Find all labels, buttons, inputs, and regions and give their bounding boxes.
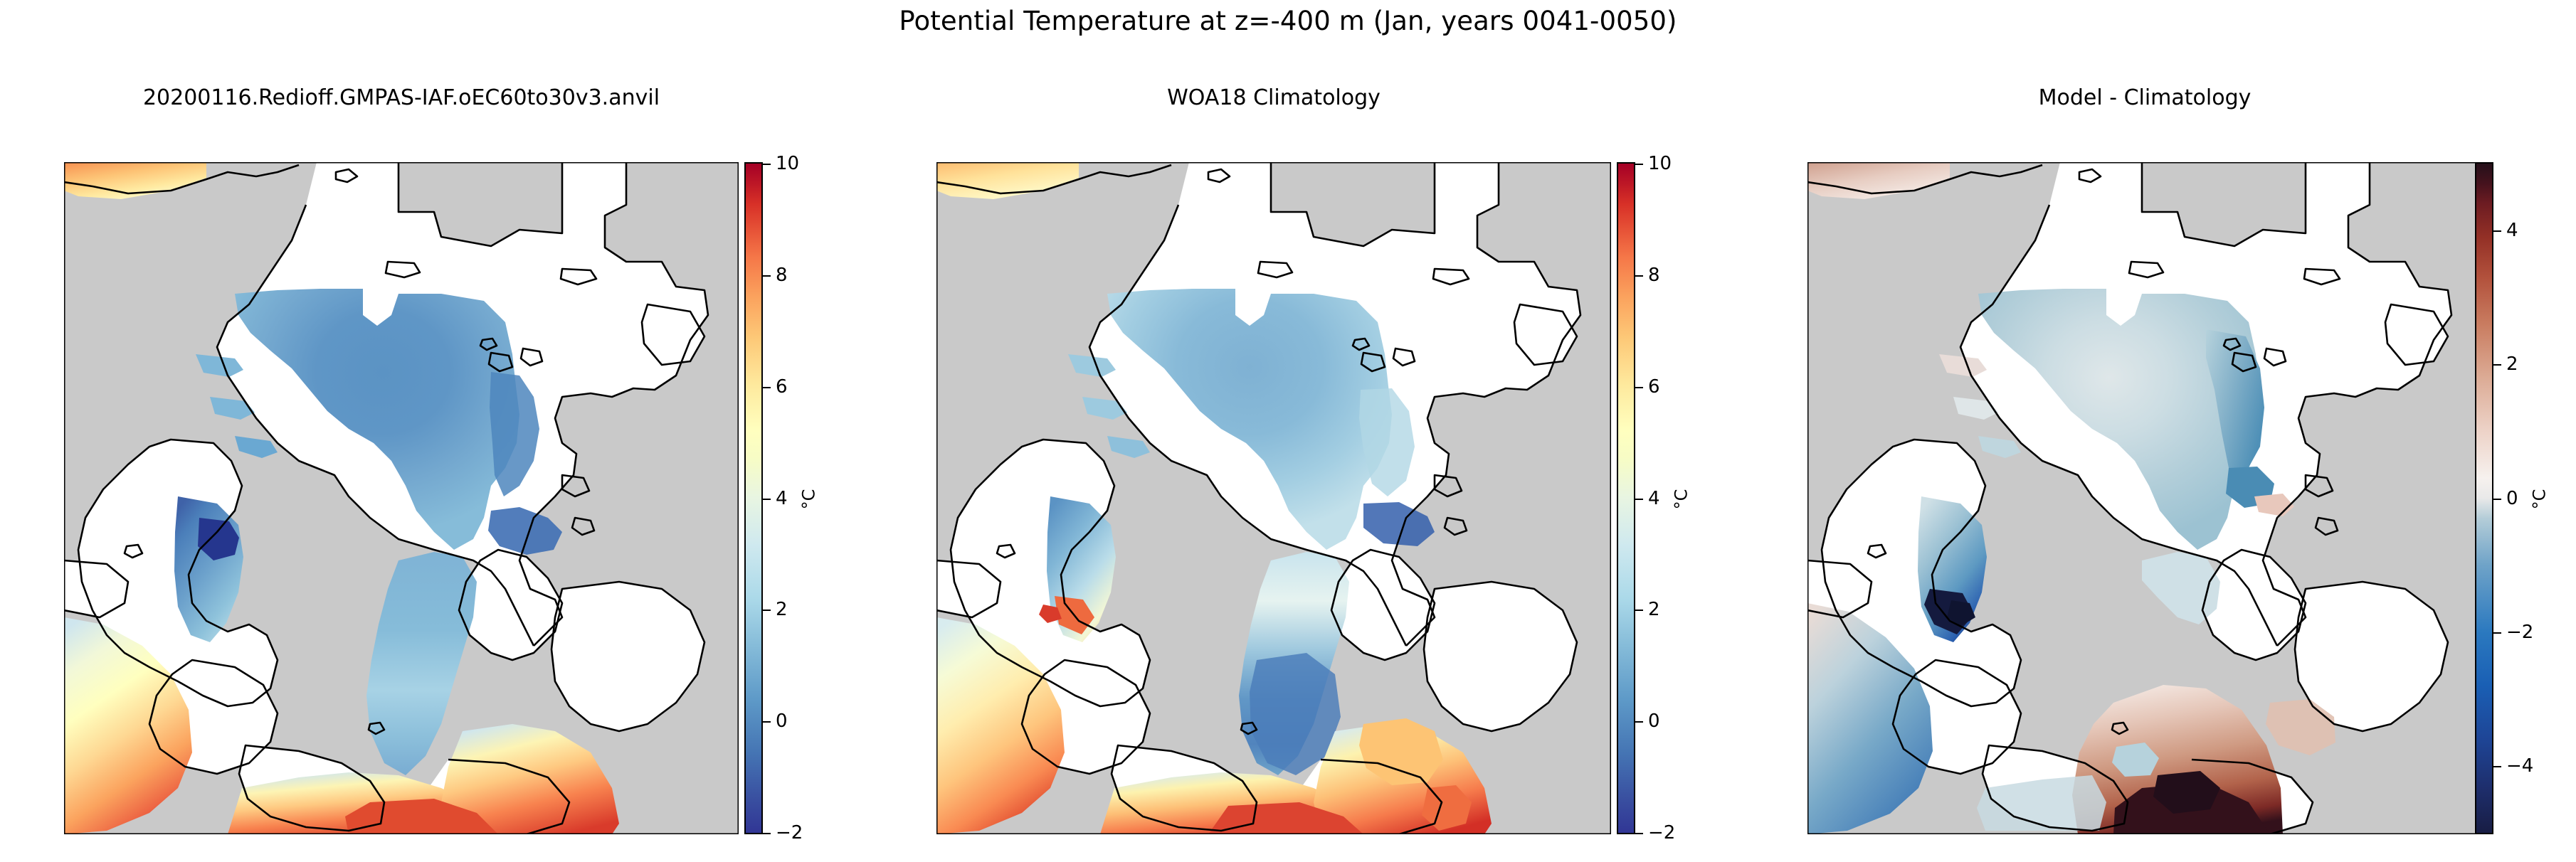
cbar1-label-m2: −2	[776, 822, 803, 844]
cbar2-label-0: 0	[1648, 711, 1660, 732]
cbar2-label-6: 6	[1648, 376, 1660, 398]
cbar3-label-2: 2	[2506, 353, 2518, 375]
cbar1-tick-10	[761, 164, 771, 165]
colorbar-climatology[interactable]: 10 8 6 4 2 0 −2 °C	[1617, 162, 1635, 834]
cbar2-tick-2	[1634, 610, 1643, 611]
cbar1-tick-4	[761, 499, 771, 500]
cbar3-tick-m2	[2492, 632, 2501, 634]
map-panel-difference[interactable]	[1807, 162, 2482, 834]
cbar3-tick-4	[2492, 230, 2501, 232]
map-canvas-climatology	[936, 162, 1611, 834]
cbar1-tick-6	[761, 387, 771, 388]
cbar3-tick-m4	[2492, 766, 2501, 767]
panel-title-difference: Model - Climatology	[1807, 85, 2482, 110]
cbar1-label-0: 0	[776, 711, 788, 732]
cbar1-tick-8	[761, 275, 771, 277]
colorbar-difference[interactable]: 4 2 0 −2 −4 °C	[2475, 162, 2493, 834]
cbar1-label-8: 8	[776, 265, 788, 286]
cbar1-label-6: 6	[776, 376, 788, 398]
cbar3-label-m2: −2	[2506, 622, 2533, 643]
cbar3-tick-2	[2492, 364, 2501, 366]
cbar2-tick-8	[1634, 275, 1643, 277]
panel-title-model: 20200116.Redioff.GMPAS-IAF.oEC60to30v3.a…	[64, 85, 739, 110]
cbar3-label-m4: −4	[2506, 755, 2533, 777]
panel-title-climatology: WOA18 Climatology	[936, 85, 1611, 110]
cbar1-label-10: 10	[776, 153, 799, 174]
map-canvas-difference	[1807, 162, 2482, 834]
cbar2-tick-6	[1634, 387, 1643, 388]
cbar2-label-8: 8	[1648, 265, 1660, 286]
cbar3-label-0: 0	[2506, 488, 2518, 509]
cbar3-label-4: 4	[2506, 220, 2518, 241]
cbar2-unit-label: °C	[1671, 489, 1691, 510]
cbar1-label-4: 4	[776, 488, 788, 509]
cbar2-tick-4	[1634, 499, 1643, 500]
cbar1-tick-2	[761, 610, 771, 611]
map-canvas-model	[64, 162, 739, 834]
cbar2-label-m2: −2	[1648, 822, 1675, 844]
cbar2-label-2: 2	[1648, 599, 1660, 620]
cbar2-tick-10	[1634, 164, 1643, 165]
cbar2-tick-m2	[1634, 833, 1643, 834]
cbar1-tick-m2	[761, 833, 771, 834]
figure-suptitle: Potential Temperature at z=-400 m (Jan, …	[0, 6, 2576, 36]
map-panel-climatology[interactable]	[936, 162, 1611, 834]
cbar2-tick-0	[1634, 721, 1643, 723]
cbar3-unit-label: °C	[2529, 489, 2549, 510]
cbar3-tick-0	[2492, 499, 2501, 500]
map-panel-model[interactable]	[64, 162, 739, 834]
colorbar-model[interactable]: 10 8 6 4 2 0 −2 °C	[744, 162, 763, 834]
cbar2-label-4: 4	[1648, 488, 1660, 509]
cbar1-label-2: 2	[776, 599, 788, 620]
cbar2-label-10: 10	[1648, 153, 1672, 174]
cbar1-tick-0	[761, 721, 771, 723]
cbar1-unit-label: °C	[798, 489, 818, 510]
